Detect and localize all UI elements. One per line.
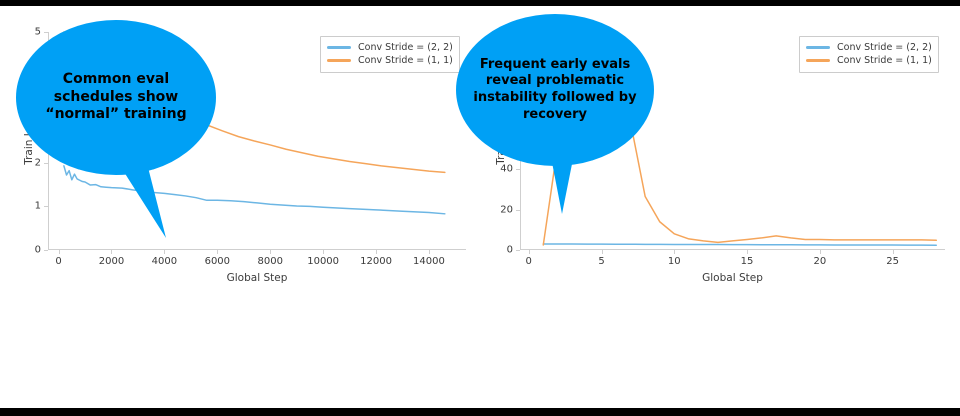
legend-label: Conv Stride = (2, 2) (358, 42, 453, 53)
x-tick (376, 250, 377, 254)
legend-entry: Conv Stride = (1, 1) (806, 54, 932, 67)
x-tick (429, 250, 430, 254)
x-tick-label: 6000 (205, 256, 230, 267)
callout-bubble-left-text: Common eval schedules show “normal” trai… (16, 20, 216, 175)
x-tick-label: 8000 (257, 256, 282, 267)
callout-bubble-right: Frequent early evals reveal problematic … (446, 14, 668, 226)
x-tick (820, 250, 821, 254)
x-tick (529, 250, 530, 254)
legend-entry: Conv Stride = (1, 1) (327, 54, 453, 67)
figure-canvas: Eval every 1000 steps 012345020004000600… (0, 6, 960, 408)
chart-right-legend: Conv Stride = (2, 2) Conv Stride = (1, 1… (799, 36, 939, 73)
chart-left-legend: Conv Stride = (2, 2) Conv Stride = (1, 1… (320, 36, 460, 73)
x-tick-label: 10000 (307, 256, 339, 267)
x-tick (602, 250, 603, 254)
legend-label: Conv Stride = (1, 1) (358, 55, 453, 66)
legend-label: Conv Stride = (2, 2) (837, 42, 932, 53)
x-tick-label: 20 (813, 256, 826, 267)
x-tick (270, 250, 271, 254)
y-tick (516, 250, 520, 251)
chart-right-xlabel: Global Step (520, 272, 945, 284)
x-tick-label: 15 (741, 256, 754, 267)
x-tick-label: 2000 (99, 256, 124, 267)
x-tick-label: 25 (886, 256, 899, 267)
legend-entry: Conv Stride = (2, 2) (806, 41, 932, 54)
x-tick-label: 5 (598, 256, 604, 267)
legend-swatch-conv-stride-2-2 (806, 46, 830, 49)
legend-swatch-conv-stride-1-1 (327, 59, 351, 62)
x-tick (674, 250, 675, 254)
legend-swatch-conv-stride-2-2 (327, 46, 351, 49)
x-tick-label: 14000 (413, 256, 445, 267)
x-tick (893, 250, 894, 254)
series-line (543, 244, 936, 245)
legend-swatch-conv-stride-1-1 (806, 59, 830, 62)
x-tick (747, 250, 748, 254)
y-tick-label: 0 (507, 245, 513, 256)
callout-bubble-right-text: Frequent early evals reveal problematic … (456, 14, 654, 166)
legend-label: Conv Stride = (1, 1) (837, 55, 932, 66)
legend-entry: Conv Stride = (2, 2) (327, 41, 453, 54)
x-tick-label: 0 (526, 256, 532, 267)
callout-bubble-left: Common eval schedules show “normal” trai… (16, 20, 228, 244)
x-tick-label: 4000 (152, 256, 177, 267)
x-tick-label: 10 (668, 256, 681, 267)
x-tick (323, 250, 324, 254)
chart-left-xlabel: Global Step (48, 272, 466, 284)
x-tick-label: 12000 (360, 256, 392, 267)
x-tick (217, 250, 218, 254)
x-tick-label: 0 (55, 256, 61, 267)
